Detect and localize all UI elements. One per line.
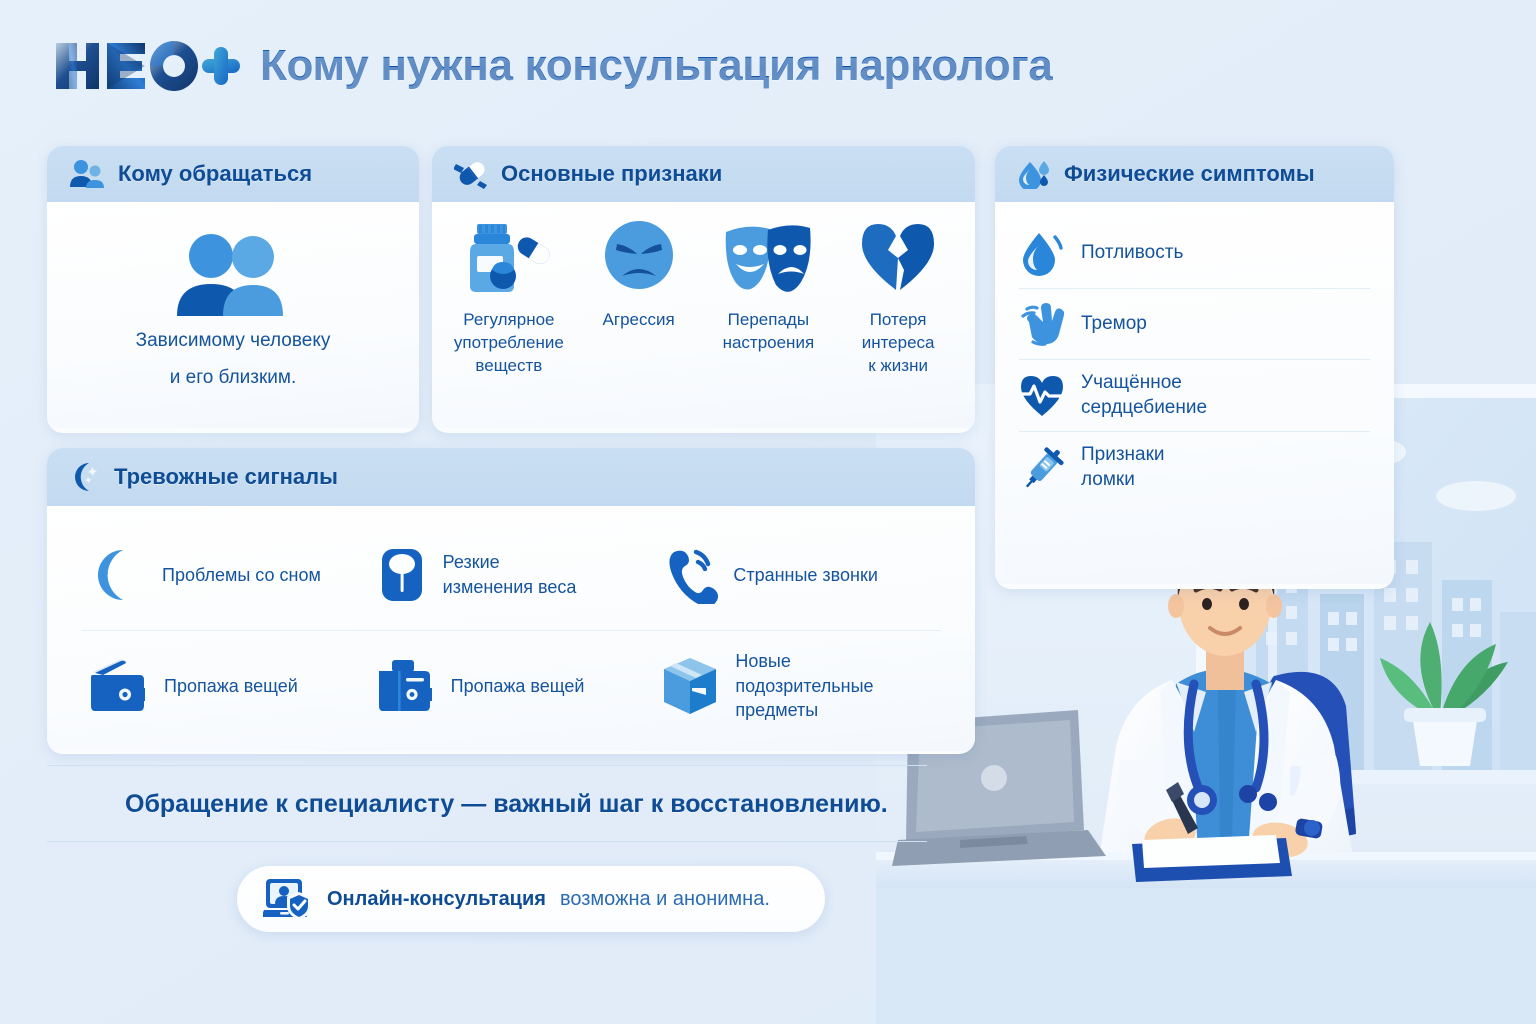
footer-divider-bottom: [47, 841, 927, 842]
sign-label: Регулярное употребление веществ: [454, 308, 564, 377]
crescent-moon-stars-icon: [69, 461, 101, 493]
sign-item: Перепады настроения: [706, 218, 831, 354]
card-alarm-body: Проблемы со сном Резкие изменения веса: [47, 506, 975, 751]
card-who-body: Зависимому человеку и его близким.: [47, 202, 419, 428]
ringing-phone-icon: [662, 546, 718, 604]
theater-masks-icon: [718, 218, 818, 296]
broken-heart-icon: [856, 218, 940, 296]
pill-bottle-icon: [463, 218, 555, 296]
card-who-to-contact: Кому обращаться Зависимому человеку и ег…: [47, 146, 419, 433]
alarm-cell: Проблемы со сном: [81, 520, 368, 631]
alarm-cell: Новые подозрительные предметы: [654, 631, 941, 742]
card-signs-header: Основные признаки: [432, 146, 975, 202]
online-consultation-badge[interactable]: Онлайн-консультация возможна и анонимна.: [237, 866, 825, 932]
card-who-line-1: Зависимому человеку: [136, 328, 331, 355]
water-drops-icon: [1017, 159, 1051, 189]
phys-row: Тремор: [1019, 289, 1370, 360]
card-who-title: Кому обращаться: [118, 161, 312, 187]
alarm-cell: Пропажа вещей: [81, 631, 368, 742]
card-phys-title: Физические симптомы: [1064, 161, 1315, 187]
pills-capsule-icon: [454, 159, 488, 189]
weight-scale-icon: [376, 546, 428, 604]
sign-item: Регулярное употребление веществ: [447, 218, 572, 377]
droplet-icon: [1019, 229, 1065, 277]
alarm-label: Резкие изменения веса: [443, 550, 577, 599]
alarm-label: Пропажа вещей: [451, 674, 585, 698]
card-alarm-title: Тревожные сигналы: [114, 464, 338, 490]
badge-strong-text: Онлайн-консультация: [327, 888, 546, 911]
alarm-cell: Резкие изменения веса: [368, 520, 655, 631]
sign-item: Агрессия: [576, 218, 701, 331]
card-alarm-header: Тревожные сигналы: [47, 448, 975, 506]
card-phys-header: Физические симптомы: [995, 146, 1394, 202]
card-physical-symptoms: Физические симптомы Потливость Тремор: [995, 146, 1394, 589]
wallet-closed-icon: [376, 658, 436, 714]
footer-statement: Обращение к специалисту — важный шаг к в…: [47, 766, 927, 841]
card-signs-title: Основные признаки: [501, 161, 722, 187]
card-signs-body: Регулярное употребление веществ Агрессия: [432, 202, 975, 428]
page-header: Кому нужна консультация нарколога: [0, 0, 1536, 132]
alarm-label: Странные звонки: [733, 563, 878, 587]
phys-label: Признаки ломки: [1081, 443, 1165, 492]
page-title: Кому нужна консультация нарколога: [260, 41, 1053, 91]
wallet-open-icon: [89, 658, 149, 714]
phys-row: Учащённое сердцебиение: [1019, 360, 1370, 432]
footer: Обращение к специалисту — важный шаг к в…: [47, 765, 927, 932]
phys-label: Тремор: [1081, 312, 1147, 337]
phys-label: Учащённое сердцебиение: [1081, 371, 1207, 420]
two-people-icon: [169, 232, 297, 318]
people-pair-icon: [69, 159, 105, 189]
laptop-verified-user-icon: [263, 876, 313, 922]
card-who-header: Кому обращаться: [47, 146, 419, 202]
alarm-cell: Пропажа вещей: [368, 631, 655, 742]
neo-plus-logo: [52, 35, 240, 97]
phys-row: Признаки ломки: [1019, 432, 1370, 503]
angry-face-icon: [600, 218, 678, 296]
heart-pulse-icon: [1019, 372, 1065, 420]
package-box-icon: [662, 656, 720, 716]
shaking-hand-icon: [1019, 300, 1065, 348]
sign-label: Потеря интереса к жизни: [862, 308, 935, 377]
alarm-label: Новые подозрительные предметы: [735, 649, 873, 722]
moon-sleep-icon: [89, 546, 147, 604]
syringe-icon: [1019, 444, 1065, 492]
card-phys-body: Потливость Тремор Учащённое сердцебиение: [995, 202, 1394, 584]
card-alarm-signals: Тревожные сигналы Проблемы со сном Резки…: [47, 448, 975, 754]
alarm-label: Проблемы со сном: [162, 563, 321, 587]
card-who-line-2: и его близким.: [170, 365, 297, 392]
card-main-signs: Основные признаки Регулярное употреблен: [432, 146, 975, 433]
alarm-label: Пропажа вещей: [164, 674, 298, 698]
phys-label: Потливость: [1081, 241, 1183, 266]
badge-normal-text: возможна и анонимна.: [560, 888, 770, 911]
sign-label: Перепады настроения: [723, 308, 815, 354]
phys-row: Потливость: [1019, 218, 1370, 289]
sign-item: Потеря интереса к жизни: [836, 218, 961, 377]
alarm-cell: Странные звонки: [654, 520, 941, 631]
sign-label: Агрессия: [603, 308, 675, 331]
